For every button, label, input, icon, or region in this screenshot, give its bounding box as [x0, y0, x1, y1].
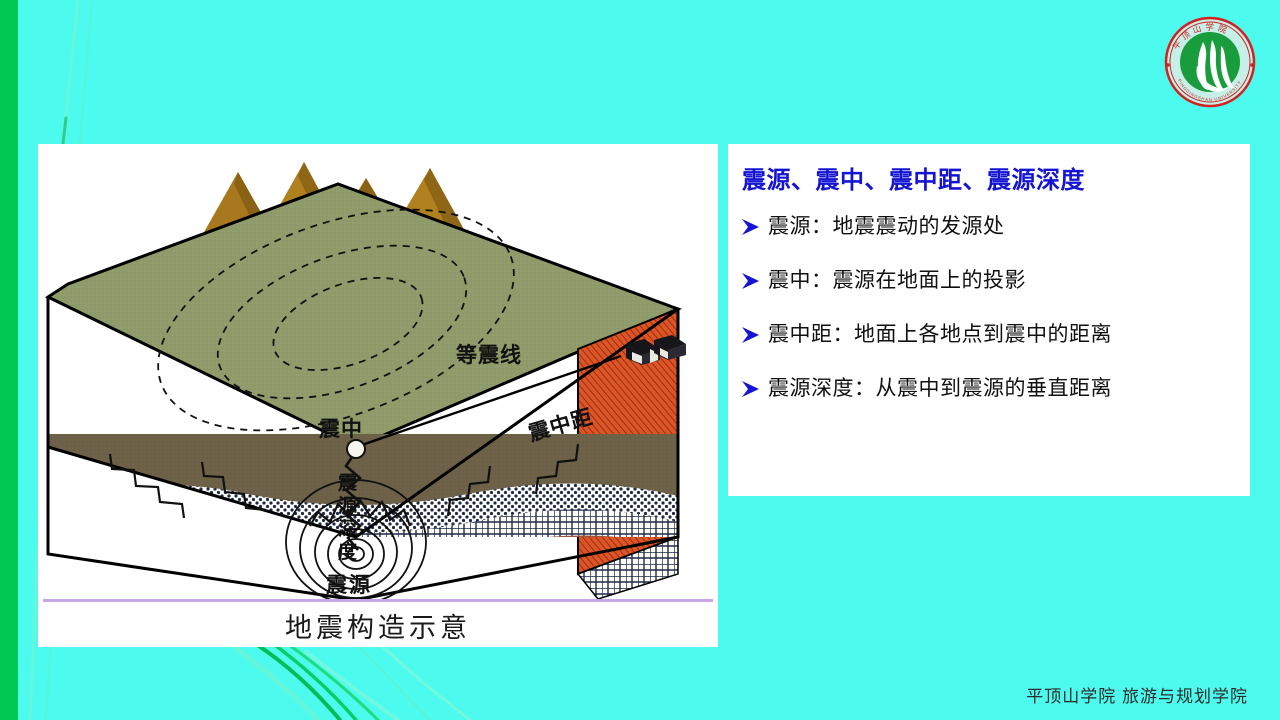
svg-text:度: 度 [338, 540, 358, 563]
svg-text:源: 源 [338, 494, 357, 517]
definitions-title: 震源、震中、震中距、震源深度 [742, 160, 1085, 195]
list-item-label: 震中距：地面上各地点到震中的距离 [768, 320, 1112, 350]
list-item: 震中距：地面上各地点到震中的距离 [738, 320, 1240, 350]
label-focal-depth: 震 源 深 度 [338, 472, 358, 563]
left-accent-band [0, 0, 18, 720]
slide-canvas: 平顶山学院 PINGDINGSHAN UNIVERSITY [0, 0, 1280, 720]
university-logo: 平顶山学院 PINGDINGSHAN UNIVERSITY [1157, 12, 1263, 112]
figure-caption: 地震构造示意 [38, 606, 718, 645]
arrow-bullet-icon [738, 376, 764, 402]
list-item-label: 震中：震源在地面上的投影 [768, 266, 1026, 296]
slide-footer: 平顶山学院 旅游与规划学院 [0, 682, 1248, 707]
list-item-label: 震源：地震震动的发源处 [768, 212, 1005, 242]
arrow-bullet-icon [738, 322, 764, 348]
list-item: 震源深度：从震中到震源的垂直距离 [738, 374, 1240, 404]
svg-text:震: 震 [338, 472, 358, 494]
epicenter-marker [347, 440, 365, 458]
arrow-bullet-icon [738, 268, 764, 294]
list-item: 震中：震源在地面上的投影 [738, 266, 1240, 296]
figure-panel: 等震线 震中距 震中 震 源 深 度 震源 地震构造示意 [38, 144, 718, 647]
list-item: 震源：地震震动的发源处 [738, 212, 1240, 242]
figure-divider [43, 599, 713, 602]
earthquake-diagram: 等震线 震中距 震中 震 源 深 度 震源 [38, 144, 718, 600]
label-hypocenter: 震源 [326, 572, 372, 597]
label-epicenter: 震中 [319, 416, 363, 441]
svg-text:深: 深 [338, 517, 357, 540]
label-isoseismal: 等震线 [456, 342, 522, 367]
definitions-bullet-list: 震源：地震震动的发源处 震中：震源在地面上的投影 震中距：地面上各地点到震中的距… [738, 212, 1240, 428]
arrow-bullet-icon [738, 214, 764, 240]
list-item-label: 震源深度：从震中到震源的垂直距离 [768, 374, 1112, 404]
definitions-text-box: 震源、震中、震中距、震源深度 震源：地震震动的发源处 震中：震源在地面上的投影 [728, 144, 1250, 496]
